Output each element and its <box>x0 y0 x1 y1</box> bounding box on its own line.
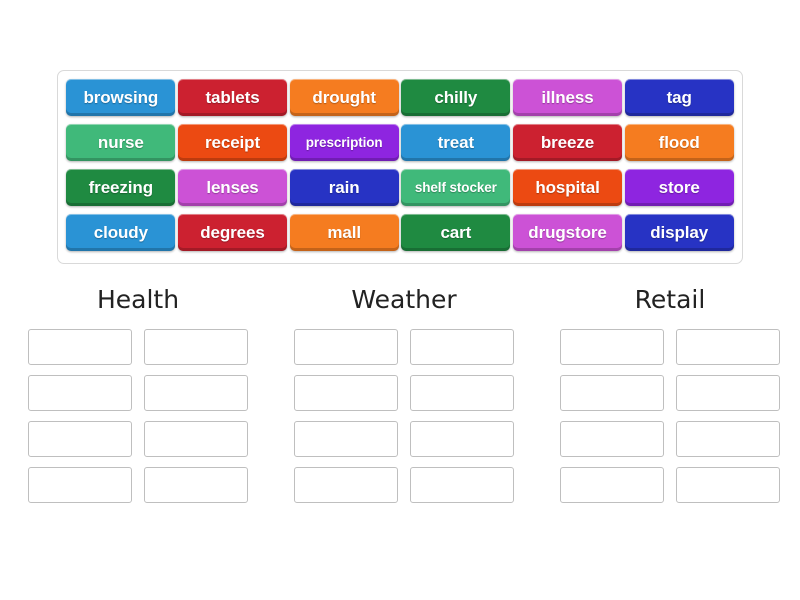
word-tile[interactable]: drought <box>290 79 399 116</box>
word-tile[interactable]: nurse <box>66 124 175 161</box>
drop-slot[interactable] <box>560 467 664 503</box>
word-tile[interactable]: flood <box>625 124 734 161</box>
drop-slot[interactable] <box>294 375 398 411</box>
drop-slot[interactable] <box>28 329 132 365</box>
word-bank-cell: drugstore <box>512 214 624 259</box>
word-bank-cell: tablets <box>177 79 289 124</box>
word-bank-cell: display <box>623 214 735 259</box>
word-bank-cell: treat <box>400 124 512 169</box>
word-tile[interactable]: drugstore <box>513 214 622 251</box>
category-column: Health <box>10 286 266 503</box>
word-tile[interactable]: hospital <box>513 169 622 206</box>
category-slot-grid <box>542 329 798 503</box>
drop-slot[interactable] <box>28 467 132 503</box>
category-column: Retail <box>542 286 798 503</box>
drop-slot[interactable] <box>410 421 514 457</box>
category-title: Health <box>10 286 266 314</box>
word-bank-cell: prescription <box>288 124 400 169</box>
word-bank-cell: cart <box>400 214 512 259</box>
drop-slot[interactable] <box>676 467 780 503</box>
word-bank-row: browsingtabletsdroughtchillyillnesstag <box>65 79 735 124</box>
drop-slot[interactable] <box>560 421 664 457</box>
word-bank-cell: freezing <box>65 169 177 214</box>
word-bank-row: freezinglensesrainshelf stockerhospitals… <box>65 169 735 214</box>
word-bank-cell: cloudy <box>65 214 177 259</box>
word-tile[interactable]: rain <box>290 169 399 206</box>
word-tile[interactable]: illness <box>513 79 622 116</box>
word-bank-row: nursereceiptprescriptiontreatbreezeflood <box>65 124 735 169</box>
drop-slot[interactable] <box>294 467 398 503</box>
category-columns: HealthWeatherRetail <box>0 286 800 503</box>
word-bank-cell: store <box>623 169 735 214</box>
drop-slot[interactable] <box>294 421 398 457</box>
word-tile[interactable]: browsing <box>66 79 175 116</box>
word-tile[interactable]: degrees <box>178 214 287 251</box>
drop-slot[interactable] <box>676 375 780 411</box>
word-tile[interactable]: tag <box>625 79 734 116</box>
word-bank-cell: receipt <box>177 124 289 169</box>
word-bank-cell: illness <box>512 79 624 124</box>
drop-slot[interactable] <box>144 329 248 365</box>
drop-slot[interactable] <box>560 375 664 411</box>
word-bank-cell: hospital <box>512 169 624 214</box>
drop-slot[interactable] <box>560 329 664 365</box>
word-tile[interactable]: tablets <box>178 79 287 116</box>
drop-slot[interactable] <box>410 467 514 503</box>
word-tile[interactable]: cloudy <box>66 214 175 251</box>
word-bank-cell: drought <box>288 79 400 124</box>
word-tile[interactable]: treat <box>401 124 510 161</box>
category-title: Retail <box>542 286 798 314</box>
word-tile[interactable]: breeze <box>513 124 622 161</box>
word-tile[interactable]: chilly <box>401 79 510 116</box>
word-bank-cell: chilly <box>400 79 512 124</box>
word-bank-panel: browsingtabletsdroughtchillyillnesstagnu… <box>57 70 743 264</box>
word-bank-cell: tag <box>623 79 735 124</box>
category-column: Weather <box>276 286 532 503</box>
word-tile[interactable]: receipt <box>178 124 287 161</box>
drop-slot[interactable] <box>294 329 398 365</box>
drop-slot[interactable] <box>676 329 780 365</box>
word-tile[interactable]: lenses <box>178 169 287 206</box>
word-bank-cell: mall <box>288 214 400 259</box>
drop-slot[interactable] <box>410 329 514 365</box>
drop-slot[interactable] <box>28 421 132 457</box>
category-slot-grid <box>276 329 532 503</box>
word-tile[interactable]: prescription <box>290 124 399 161</box>
drop-slot[interactable] <box>410 375 514 411</box>
drop-slot[interactable] <box>28 375 132 411</box>
word-bank-cell: nurse <box>65 124 177 169</box>
category-title: Weather <box>276 286 532 314</box>
word-tile[interactable]: freezing <box>66 169 175 206</box>
word-bank-row: cloudydegreesmallcartdrugstoredisplay <box>65 214 735 259</box>
word-tile[interactable]: store <box>625 169 734 206</box>
word-bank-cell: shelf stocker <box>400 169 512 214</box>
word-tile[interactable]: mall <box>290 214 399 251</box>
drop-slot[interactable] <box>144 467 248 503</box>
word-bank-cell: degrees <box>177 214 289 259</box>
category-slot-grid <box>10 329 266 503</box>
word-bank-cell: lenses <box>177 169 289 214</box>
word-bank-cell: breeze <box>512 124 624 169</box>
word-bank-cell: rain <box>288 169 400 214</box>
word-bank-cell: browsing <box>65 79 177 124</box>
drop-slot[interactable] <box>144 421 248 457</box>
drop-slot[interactable] <box>676 421 780 457</box>
word-tile[interactable]: shelf stocker <box>401 169 510 206</box>
drop-slot[interactable] <box>144 375 248 411</box>
word-tile[interactable]: display <box>625 214 734 251</box>
word-tile[interactable]: cart <box>401 214 510 251</box>
word-bank-cell: flood <box>623 124 735 169</box>
